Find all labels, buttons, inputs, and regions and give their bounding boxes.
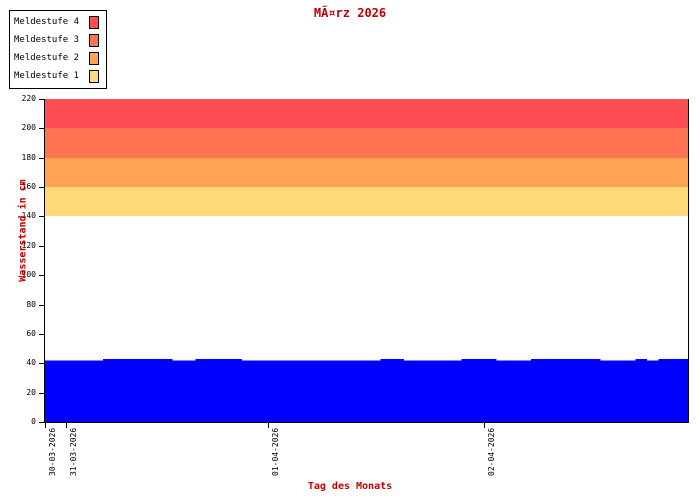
legend-item-label: Meldestufe 4 [14,13,79,31]
y-tick-label: 60 [0,330,36,338]
legend-swatch-icon [89,16,99,29]
legend-swatch-icon [89,70,99,83]
legend-item-2: Meldestufe 2 [10,49,108,67]
x-tick-label: 01-04-2026 [272,428,280,476]
y-tick-label: 0 [0,418,36,426]
y-tick-label: 220 [0,95,36,103]
legend-item-label: Meldestufe 1 [14,67,79,85]
x-tick-mark [484,422,485,428]
y-tick-mark [39,393,45,394]
legend-item-label: Meldestufe 2 [14,49,79,67]
plot-axis-right [688,99,689,423]
y-tick-mark [39,305,45,306]
water-level-chart: MÃ¤rz 2026 Meldestufe 4Meldestufe 3Melde… [0,0,700,500]
legend-item-1: Meldestufe 1 [10,67,108,85]
legend-swatch-icon [89,52,99,65]
x-axis-title: Tag des Monats [0,481,700,492]
y-tick-mark [39,158,45,159]
y-tick-mark [39,128,45,129]
y-tick-mark [39,334,45,335]
y-tick-label: 40 [0,359,36,367]
water-level-series [45,99,688,422]
y-tick-mark [39,363,45,364]
y-tick-mark [39,216,45,217]
x-tick-mark [268,422,269,428]
x-tick-mark [66,422,67,428]
legend-item-3: Meldestufe 3 [10,31,108,49]
y-tick-mark [39,187,45,188]
legend-item-4: Meldestufe 4 [10,13,108,31]
plot-axis-bottom [44,422,689,423]
x-tick-label: 02-04-2026 [488,428,496,476]
y-tick-mark [39,246,45,247]
x-tick-mark [45,422,46,428]
legend: Meldestufe 4Meldestufe 3Meldestufe 2Meld… [9,10,107,89]
legend-swatch-icon [89,34,99,47]
x-tick-label: 30-03-2026 [49,428,57,476]
plot-axis-left [44,99,45,423]
y-axis-title: Wasserstand in cm [18,156,29,306]
y-tick-label: 20 [0,389,36,397]
y-tick-mark [39,275,45,276]
y-tick-label: 200 [0,124,36,132]
legend-item-label: Meldestufe 3 [14,31,79,49]
x-tick-label: 31-03-2026 [70,428,78,476]
plot-area [45,99,688,422]
y-tick-mark [39,99,45,100]
